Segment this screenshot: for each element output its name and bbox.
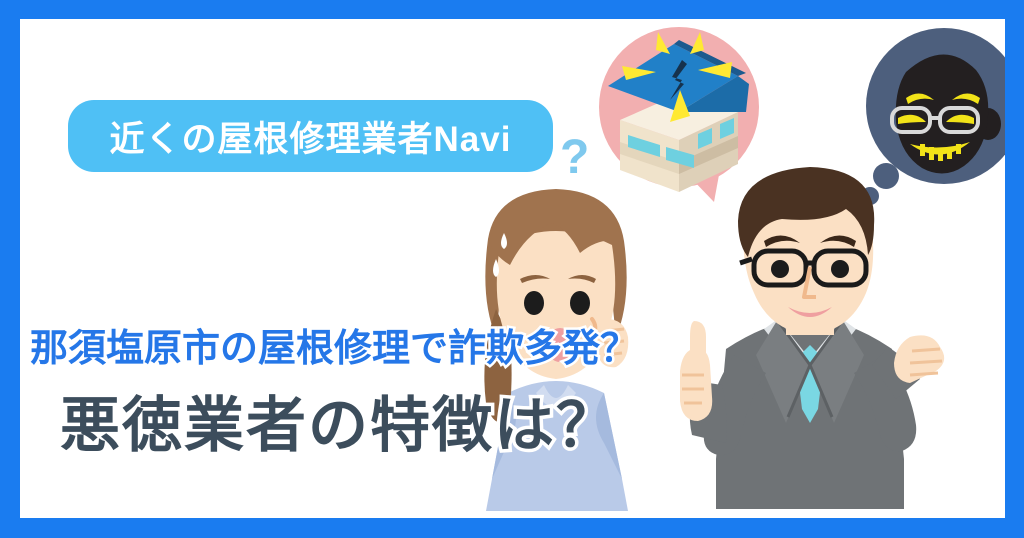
woman-eye-left [524,291,544,315]
man-eye-left [771,260,789,278]
man-eye-right [831,260,849,278]
headline-title: 悪徳業者の特徴は？ [60,377,618,464]
badge-question-mark-icon: ? [560,130,589,185]
site-name-label: 近くの屋根修理業者Navi [110,111,512,162]
poster-inner-panel: 近くの屋根修理業者Navi ? 那須塩原市の屋根修理で詐欺多発？ 悪徳業者の特徴… [20,19,1005,518]
man-index-finger [690,321,706,363]
explaining-businessman [660,159,950,518]
woman-eye-right [570,291,590,315]
poster-canvas: 近くの屋根修理業者Navi ? 那須塩原市の屋根修理で詐欺多発？ 悪徳業者の特徴… [0,0,1024,538]
headline-subtitle: 那須塩原市の屋根修理で詐欺多発？ [30,317,638,372]
site-name-badge[interactable]: 近くの屋根修理業者Navi [68,100,553,172]
